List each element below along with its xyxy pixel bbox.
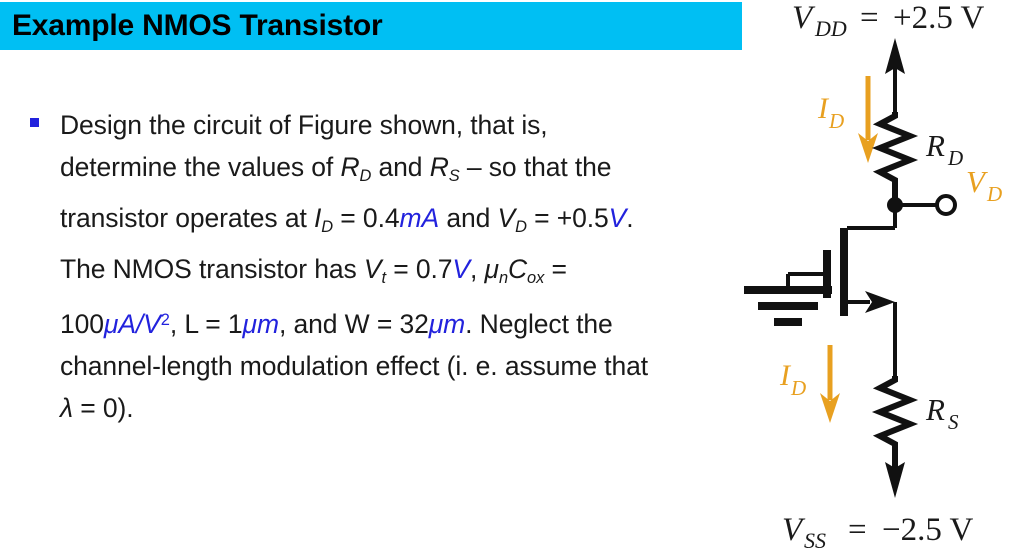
conjunction-and-1: and [379,152,423,182]
value-id: = 0.4 [340,203,399,233]
unit-micron-1: μm [243,309,279,339]
label-rs-subscript: S [948,410,959,434]
transistor-channel-bar [840,228,848,316]
symbol-mu-n-cox: μnCox [485,254,545,284]
label-rd: R [925,128,945,163]
symbol-lambda: λ [60,393,73,423]
label-vdd-value: +2.5 V [893,0,985,36]
conjunction-and-2: and [446,203,490,233]
problem-statement-text: Design the circuit of Figure shown, that… [60,104,660,429]
symbol-rd: RD [340,152,371,182]
label-vss-subscript: SS [804,528,826,553]
label-vss: V [782,512,806,548]
unit-microamp-per-volt-sq: μA/V2 [104,309,170,339]
symbol-id: ID [314,203,333,233]
unit-micron-2: μm [429,309,465,339]
value-vt: = 0.7 [393,254,452,284]
output-terminal-circle[interactable] [937,196,955,214]
current-arrow-id-top [858,76,878,163]
ground-symbol-icon [744,274,832,326]
symbol-rs: RS [430,152,460,182]
label-vss-value: −2.5 V [882,512,974,548]
label-vd: V [966,164,988,199]
unit-volt-1: V [609,203,627,233]
comma-2: , [170,309,177,339]
resistor-rd-symbol [880,112,910,205]
label-rs: R [925,392,945,427]
label-vdd: V [792,0,816,36]
comma-1: , [470,254,477,284]
unit-milliamp: mA [399,203,439,233]
symbol-vt: Vt [364,254,386,284]
nmos-circuit-diagram: V DD = +2.5 V I D R D V D [730,0,1024,554]
value-width: and W = 32 [293,309,428,339]
comma-3: , [279,309,286,339]
label-vss-equals: = [848,512,867,548]
current-arrow-id-bottom [820,345,840,423]
symbol-vd: VD [498,203,527,233]
slide-title-banner: Example NMOS Transistor [0,2,742,50]
label-vd-subscript: D [986,182,1002,206]
page-title: Example NMOS Transistor [12,9,383,43]
label-vdd-equals: = [860,0,879,36]
value-vd: = +0.5 [534,203,609,233]
value-length: L = 1 [184,309,242,339]
label-rd-subscript: D [947,146,963,170]
square-bullet-icon [30,118,39,127]
label-id-top-subscript: D [828,109,844,133]
value-lambda: = 0). [80,393,133,423]
unit-volt-2: V [452,254,470,284]
label-vdd-subscript: DD [814,16,847,41]
label-id-bottom-subscript: D [790,376,806,400]
